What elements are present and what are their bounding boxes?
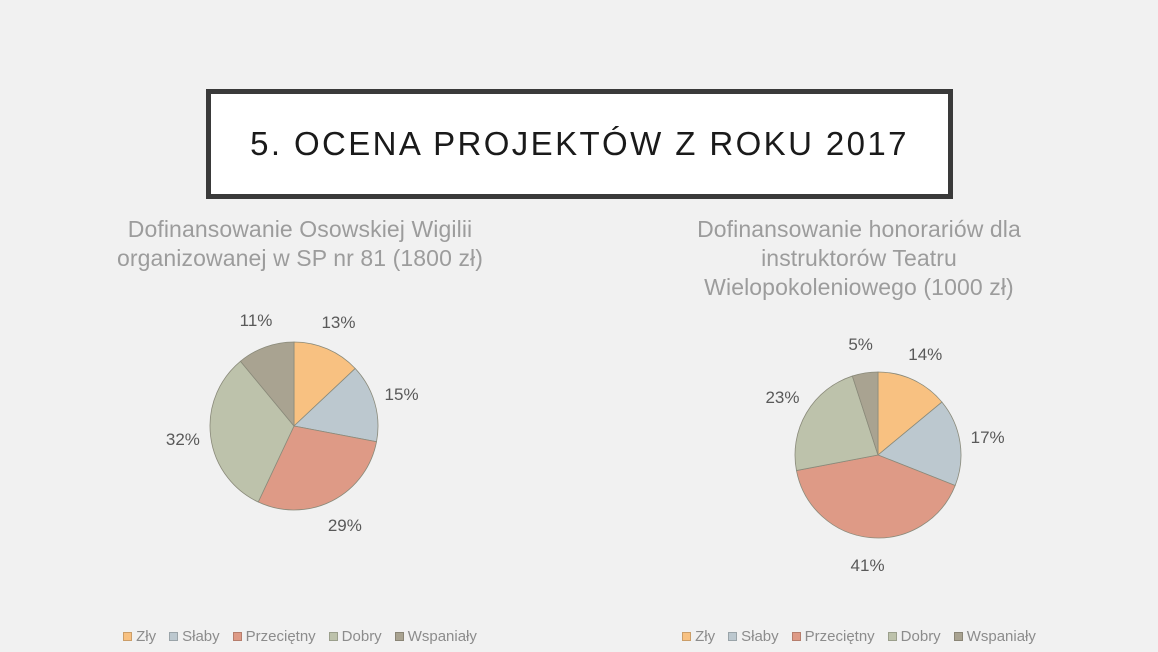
legend-item-label: Przeciętny <box>246 629 316 644</box>
legend-swatch-icon <box>954 632 963 641</box>
page-title: 5. OCENA PROJEKTÓW Z ROKU 2017 <box>250 125 909 163</box>
legend-item-label: Przeciętny <box>805 629 875 644</box>
pie-slice-label: 17% <box>971 428 1005 448</box>
legend-item-label: Zły <box>695 629 715 644</box>
legend-item[interactable]: Słaby <box>169 629 220 644</box>
legend-item[interactable]: Słaby <box>728 629 779 644</box>
chart-title-left: Dofinansowanie Osowskiej Wigilii organiz… <box>80 215 520 273</box>
legend-item-label: Zły <box>136 629 156 644</box>
chart-title-right-line-1: Dofinansowanie honorariów dla <box>659 215 1059 244</box>
legend-item[interactable]: Przeciętny <box>792 629 875 644</box>
chart-panel-left: Dofinansowanie Osowskiej Wigilii organiz… <box>30 215 570 652</box>
pie-slice-label: 14% <box>908 345 942 365</box>
pie-area-left: 13%15%29%32%11% <box>30 273 570 573</box>
pie-slice-label: 32% <box>166 430 200 450</box>
legend-swatch-icon <box>329 632 338 641</box>
pie-slice-label: 29% <box>328 516 362 536</box>
legend-item[interactable]: Zły <box>682 629 715 644</box>
legend-item-label: Wspaniały <box>967 629 1036 644</box>
pie-slice-label: 23% <box>765 388 799 408</box>
legend-swatch-icon <box>169 632 178 641</box>
pie-slice-label: 13% <box>321 313 355 333</box>
legend-left: ZłySłabyPrzeciętnyDobryWspaniały <box>30 629 570 644</box>
pie-slice-label: 5% <box>848 335 873 355</box>
legend-item-label: Dobry <box>342 629 382 644</box>
legend-item[interactable]: Dobry <box>329 629 382 644</box>
legend-swatch-icon <box>682 632 691 641</box>
chart-title-left-line-1: Dofinansowanie Osowskiej Wigilii <box>80 215 520 244</box>
chart-title-left-line-2: organizowanej w SP nr 81 (1800 zł) <box>80 244 520 273</box>
chart-panel-right: Dofinansowanie honorariów dla instruktor… <box>589 215 1129 652</box>
chart-title-right-line-2: instruktorów Teatru <box>659 244 1059 273</box>
pie-slice-label: 15% <box>385 385 419 405</box>
legend-item[interactable]: Wspaniały <box>954 629 1036 644</box>
legend-item[interactable]: Dobry <box>888 629 941 644</box>
legend-item[interactable]: Przeciętny <box>233 629 316 644</box>
legend-swatch-icon <box>123 632 132 641</box>
legend-swatch-icon <box>888 632 897 641</box>
pie-chart-left[interactable] <box>30 273 570 573</box>
legend-item-label: Wspaniały <box>408 629 477 644</box>
legend-item-label: Słaby <box>182 629 220 644</box>
legend-swatch-icon <box>233 632 242 641</box>
legend-item-label: Dobry <box>901 629 941 644</box>
legend-item-label: Słaby <box>741 629 779 644</box>
legend-item[interactable]: Wspaniały <box>395 629 477 644</box>
chart-title-right: Dofinansowanie honorariów dla instruktor… <box>659 215 1059 302</box>
legend-item[interactable]: Zły <box>123 629 156 644</box>
pie-area-right: 14%17%41%23%5% <box>589 302 1129 602</box>
legend-swatch-icon <box>728 632 737 641</box>
legend-right: ZłySłabyPrzeciętnyDobryWspaniały <box>589 629 1129 644</box>
pie-slice-label: 41% <box>851 556 885 576</box>
chart-title-right-line-3: Wielopokoleniowego (1000 zł) <box>659 273 1059 302</box>
pie-slice-label: 11% <box>240 311 273 331</box>
legend-swatch-icon <box>792 632 801 641</box>
slide-title-box: 5. OCENA PROJEKTÓW Z ROKU 2017 <box>206 89 953 199</box>
legend-swatch-icon <box>395 632 404 641</box>
